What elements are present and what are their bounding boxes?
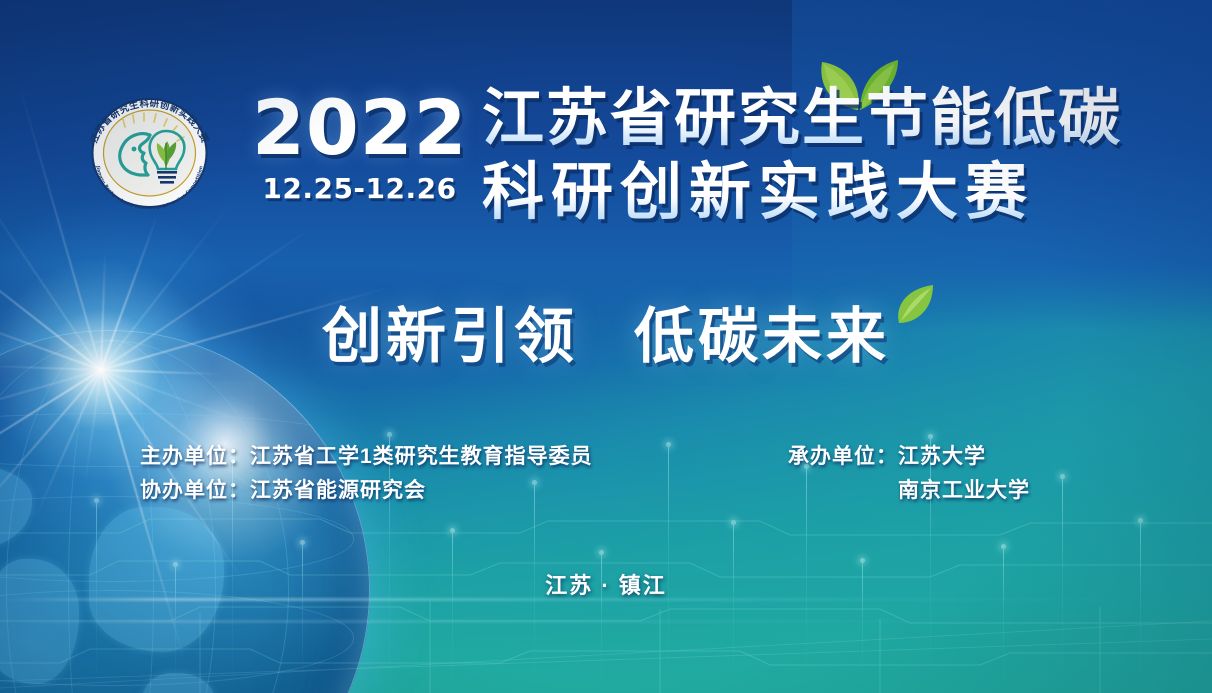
light-beam	[534, 483, 535, 693]
light-beam	[232, 459, 233, 693]
slogan: 创新引领低碳未来	[0, 288, 1212, 375]
tech-lines-layer	[0, 363, 1212, 693]
leaf-icon	[893, 283, 939, 325]
year-block: 2022 12.25-12.26	[252, 92, 467, 205]
light-beam	[302, 543, 303, 693]
light-beam	[733, 523, 734, 693]
light-beam	[175, 565, 176, 693]
light-beam	[862, 561, 863, 693]
light-beam	[806, 467, 807, 693]
light-beam	[1062, 477, 1063, 693]
light-beam	[1140, 521, 1141, 693]
poster-canvas: 江苏省研究生科研创新实践大赛 Jiangsu Postgraduate Inno…	[0, 0, 1212, 693]
slogan-right: 低碳未来	[634, 303, 890, 370]
light-beam	[389, 435, 390, 693]
dates-text: 12.25-12.26	[252, 172, 467, 205]
main-title: 江苏省研究生节能低碳 科研创新实践大赛	[482, 82, 1122, 230]
light-beam	[668, 445, 669, 693]
light-beam	[601, 553, 602, 693]
title-line-1: 江苏省研究生节能低碳	[482, 82, 1122, 156]
competition-emblem-icon: 江苏省研究生科研创新实践大赛 Jiangsu Postgraduate Inno…	[78, 97, 221, 209]
light-beam	[96, 501, 97, 693]
year-text: 2022	[252, 92, 467, 164]
light-beam	[930, 437, 931, 693]
light-beam	[452, 531, 453, 693]
title-line-2: 科研创新实践大赛	[482, 156, 1122, 230]
light-streak	[0, 620, 1212, 623]
slogan-left: 创新引领	[322, 303, 578, 370]
light-streak	[0, 598, 1212, 601]
